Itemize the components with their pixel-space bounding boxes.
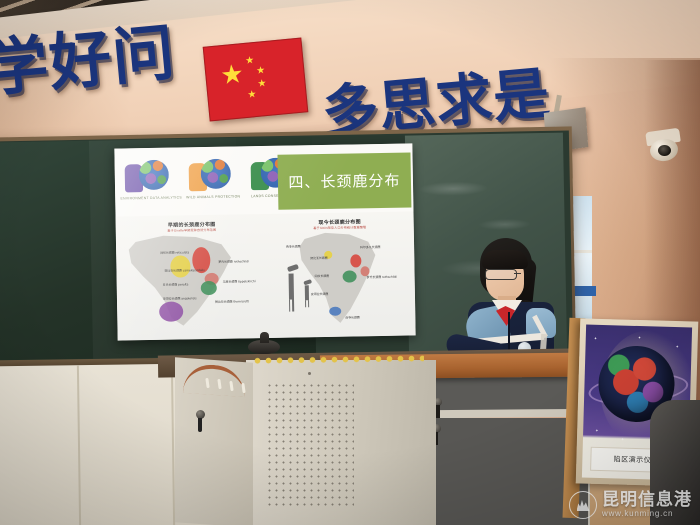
giraffe-leg: [305, 300, 307, 307]
lectern-perforated-panel: [266, 382, 354, 510]
glasses-icon: [485, 269, 517, 280]
slide-illustration-2: WILD ANIMALS PROTECTION: [186, 154, 239, 197]
watermark-url: www.kunming.cn: [602, 510, 692, 518]
giraffe-silhouette-adult: [289, 274, 294, 300]
glasses-temple: [514, 273, 521, 274]
star-icon: ✦: [595, 429, 598, 433]
globe-icon: [201, 159, 232, 190]
slide-body-area: 早期的长颈鹿分布图 基于Giraffe早期亚种自然分布范围 网纹长颈鹿 reti…: [116, 211, 416, 340]
map-label: 马赛长颈鹿 tippelskirchi: [223, 280, 256, 284]
map-label: 科尔多凡长颈鹿: [360, 246, 380, 250]
flag-small-star-2: ★: [256, 66, 266, 77]
map-label: 罗氏长颈鹿 rothschildi: [367, 276, 397, 280]
map-label: 网纹长颈鹿 reticulata: [160, 251, 189, 255]
map-label: 南非长颈鹿: [345, 316, 360, 320]
watermark-site-name: 昆明信息港: [602, 492, 692, 510]
range-blob-red: [350, 254, 361, 267]
star-icon: ✦: [621, 438, 624, 442]
map-label: 西非长颈鹿: [286, 245, 301, 249]
star-icon: ✦: [676, 345, 679, 349]
slide-illustration-1: ENVIRONMENT DATA ANALYTICS: [124, 156, 177, 199]
giraffe-silhouette-calf: [305, 285, 309, 300]
map-current-distribution: 现今长颈鹿分布图 基于IUCN现存人口分布统计数据整理 西非长颈鹿 努比亚长颈鹿…: [266, 213, 416, 336]
giraffe-leg: [292, 300, 294, 312]
classroom-photo: 学好问 多思求是 ★ ★ ★ ★ ★: [0, 0, 700, 525]
lectern-indicator: [308, 372, 311, 375]
cabinet-key-upper: [436, 405, 440, 418]
globe-icon: [139, 160, 170, 191]
hair-fringe: [482, 250, 528, 269]
camera-lens-icon: [658, 145, 671, 156]
giraffe-leg: [289, 300, 291, 312]
poster-caption: 陷区演示仪: [614, 454, 652, 465]
document-camera-head[interactable]: [260, 332, 269, 343]
range-blob-green: [201, 281, 217, 295]
watermark: 昆明信息港 www.kunming.cn: [569, 491, 692, 519]
star-icon: ✦: [638, 336, 641, 340]
slide-title: 四、长颈鹿分布: [288, 170, 400, 193]
flag-small-star-3: ★: [257, 79, 267, 90]
map-label: 罗氏长颈鹿 rothschildi: [218, 260, 248, 264]
watermark-text: 昆明信息港 www.kunming.cn: [602, 492, 692, 518]
slide-title-block: 四、长颈鹿分布: [277, 152, 411, 209]
map-label: 安哥拉长颈鹿: [311, 293, 328, 297]
map-label: 安哥拉长颈鹿 angolensis: [163, 297, 197, 301]
star-icon: ✦: [594, 337, 597, 341]
flag-small-star-1: ★: [245, 56, 255, 67]
lectern-key: [198, 418, 202, 432]
map-label: 努比亚长颈鹿: [310, 257, 327, 261]
flag-large-star: ★: [219, 60, 245, 88]
chinese-flag-icon: ★ ★ ★ ★ ★: [203, 38, 309, 122]
map-label: 赞比亚长颈鹿 thornicrofti: [215, 300, 249, 304]
projection-screen: ENVIRONMENT DATA ANALYTICS WILD ANIMALS …: [114, 143, 415, 340]
panel-seam: [77, 365, 81, 525]
map-label: 努比亚长颈鹿 camelopardalis: [164, 269, 204, 273]
flag-small-star-4: ★: [247, 90, 257, 101]
giraffe-leg: [308, 300, 310, 307]
wall-slogan-left: 学好问: [0, 22, 178, 101]
map-label: 反氏长颈鹿 peralta: [163, 283, 189, 287]
map-label: 网纹长颈鹿: [315, 275, 330, 279]
watermark-logo-icon: [569, 491, 597, 519]
map-historic-distribution: 早期的长颈鹿分布图 基于Giraffe早期亚种自然分布范围 网纹长颈鹿 reti…: [118, 216, 268, 339]
